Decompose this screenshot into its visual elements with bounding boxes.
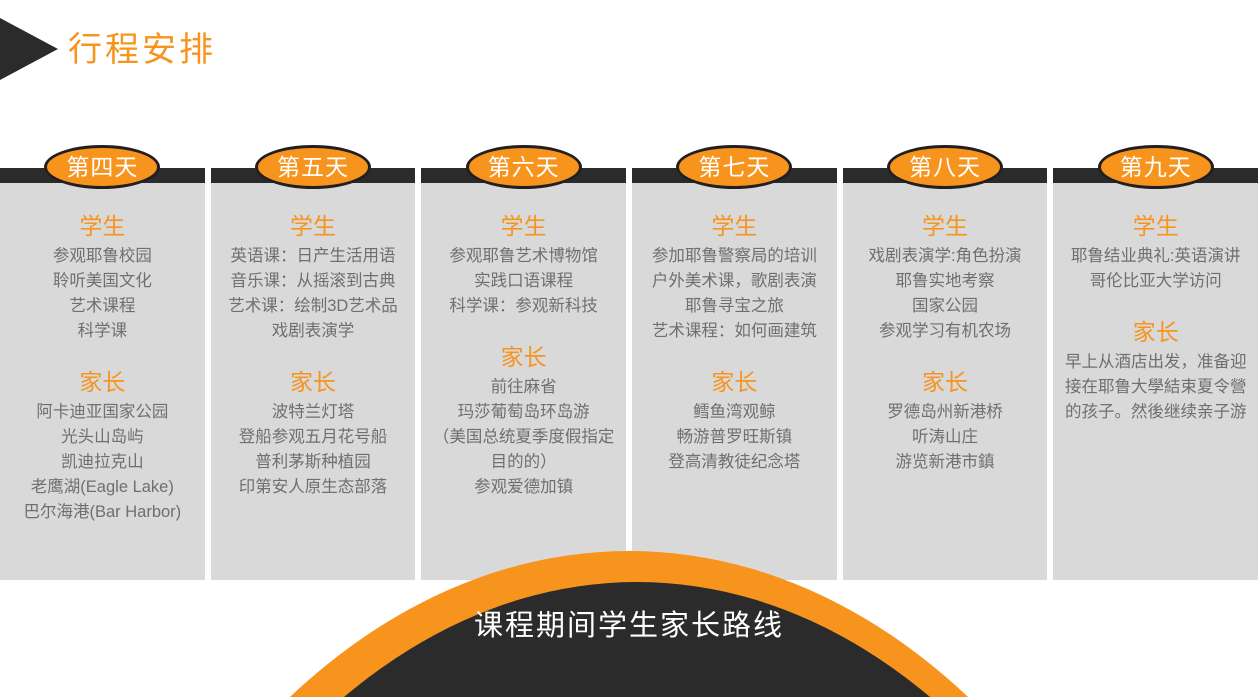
parent-activity-line: 印第安人原生态部落 xyxy=(215,475,412,500)
student-section-heading: 学生 xyxy=(636,210,833,242)
column-body: 学生耶鲁结业典礼:英语演讲哥伦比亚大学访问家长早上从酒店出发，准备迎接在耶鲁大學… xyxy=(1053,184,1258,425)
column-body: 学生英语课：日产生活用语音乐课：从摇滚到古典艺术课：绘制3D艺术品戏剧表演学家长… xyxy=(211,184,416,500)
day-badge[interactable]: 第八天 xyxy=(887,145,1003,189)
column-body: 学生参观耶鲁校园聆听美国文化艺术课程科学课家长阿卡迪亚国家公园光头山岛屿凯迪拉克… xyxy=(0,184,205,525)
student-activity-line: 英语课：日产生活用语 xyxy=(215,244,412,269)
day-column[interactable]: 第八天学生戏剧表演学:角色扮演耶鲁实地考察国家公园参观学习有机农场家长罗德岛州新… xyxy=(843,168,1048,580)
student-section-heading: 学生 xyxy=(4,210,201,242)
parent-section-heading: 家长 xyxy=(636,366,833,398)
parent-activity-line: 游览新港市鎮 xyxy=(847,450,1044,475)
student-section-heading: 学生 xyxy=(215,210,412,242)
student-activity-line: 戏剧表演学 xyxy=(215,319,412,344)
student-activity-line: 参加耶鲁警察局的培训 xyxy=(636,244,833,269)
parent-activity-line: 罗德岛州新港桥 xyxy=(847,400,1044,425)
parent-activity-line: 波特兰灯塔 xyxy=(215,400,412,425)
parent-activity-line: 畅游普罗旺斯镇 xyxy=(636,425,833,450)
parent-activity-line: 早上从酒店出发，准备迎接在耶鲁大學結束夏令營的孩子。然後继续亲子游 xyxy=(1057,350,1254,425)
day-column[interactable]: 第四天学生参观耶鲁校园聆听美国文化艺术课程科学课家长阿卡迪亚国家公园光头山岛屿凯… xyxy=(0,168,205,580)
student-activity-line: 艺术课程 xyxy=(4,294,201,319)
day-badge[interactable]: 第六天 xyxy=(466,145,582,189)
student-activity-line: 科学课：参观新科技 xyxy=(425,294,622,319)
parent-section-heading: 家长 xyxy=(4,366,201,398)
student-activity-line: 聆听美国文化 xyxy=(4,269,201,294)
column-body: 学生参加耶鲁警察局的培训户外美术课，歌剧表演耶鲁寻宝之旅艺术课程：如何画建筑家长… xyxy=(632,184,837,475)
student-activity-line: 艺术课：绘制3D艺术品 xyxy=(215,294,412,319)
parent-section-heading: 家长 xyxy=(425,341,622,373)
student-activity-line: 耶鲁结业典礼:英语演讲 xyxy=(1057,244,1254,269)
student-activity-line: 参观耶鲁艺术博物馆 xyxy=(425,244,622,269)
parent-activity-line: 登高清教徒纪念塔 xyxy=(636,450,833,475)
day-badge[interactable]: 第五天 xyxy=(255,145,371,189)
banner-title: 课程期间学生家长路线 xyxy=(0,606,1258,646)
day-column[interactable]: 第六天学生参观耶鲁艺术博物馆实践口语课程科学课：参观新科技家长前往麻省玛莎葡萄岛… xyxy=(421,168,626,580)
day-badge[interactable]: 第九天 xyxy=(1098,145,1214,189)
student-activity-line: 科学课 xyxy=(4,319,201,344)
day-column[interactable]: 第九天学生耶鲁结业典礼:英语演讲哥伦比亚大学访问家长早上从酒店出发，准备迎接在耶… xyxy=(1053,168,1258,580)
parent-activity-line: 光头山岛屿 xyxy=(4,425,201,450)
parent-activity-line: 玛莎葡萄岛环岛游 xyxy=(425,400,622,425)
parent-activity-line: 老鹰湖(Eagle Lake) xyxy=(4,475,201,500)
day-badge[interactable]: 第七天 xyxy=(676,145,792,189)
student-section-heading: 学生 xyxy=(1057,210,1254,242)
student-activity-line: 哥伦比亚大学访问 xyxy=(1057,269,1254,294)
day-columns-container: 第四天学生参观耶鲁校园聆听美国文化艺术课程科学课家长阿卡迪亚国家公园光头山岛屿凯… xyxy=(0,168,1258,580)
parent-activity-line: 前往麻省 xyxy=(425,375,622,400)
student-activity-line: 参观学习有机农场 xyxy=(847,319,1044,344)
slide-canvas: 行程安排 第四天学生参观耶鲁校园聆听美国文化艺术课程科学课家长阿卡迪亚国家公园光… xyxy=(0,0,1258,697)
student-activity-line: 耶鲁寻宝之旅 xyxy=(636,294,833,319)
student-activity-line: 耶鲁实地考察 xyxy=(847,269,1044,294)
student-activity-line: 户外美术课，歌剧表演 xyxy=(636,269,833,294)
column-body: 学生戏剧表演学:角色扮演耶鲁实地考察国家公园参观学习有机农场家长罗德岛州新港桥听… xyxy=(843,184,1048,475)
parent-activity-line: （美国总统夏季度假指定目的的） xyxy=(425,425,622,475)
student-activity-line: 艺术课程：如何画建筑 xyxy=(636,319,833,344)
parent-activity-line: 巴尔海港(Bar Harbor) xyxy=(4,500,201,525)
day-badge[interactable]: 第四天 xyxy=(44,145,160,189)
title-arrow-icon xyxy=(0,18,58,80)
parent-activity-line: 参观爱德加镇 xyxy=(425,475,622,500)
page-title: 行程安排 xyxy=(68,26,216,74)
parent-section-heading: 家长 xyxy=(215,366,412,398)
parent-activity-line: 听涛山庄 xyxy=(847,425,1044,450)
day-column[interactable]: 第七天学生参加耶鲁警察局的培训户外美术课，歌剧表演耶鲁寻宝之旅艺术课程：如何画建… xyxy=(632,168,837,580)
parent-activity-line: 登船参观五月花号船 xyxy=(215,425,412,450)
student-activity-line: 参观耶鲁校园 xyxy=(4,244,201,269)
student-activity-line: 音乐课：从摇滚到古典 xyxy=(215,269,412,294)
student-activity-line: 戏剧表演学:角色扮演 xyxy=(847,244,1044,269)
parent-activity-line: 凯迪拉克山 xyxy=(4,450,201,475)
day-column[interactable]: 第五天学生英语课：日产生活用语音乐课：从摇滚到古典艺术课：绘制3D艺术品戏剧表演… xyxy=(211,168,416,580)
column-body: 学生参观耶鲁艺术博物馆实践口语课程科学课：参观新科技家长前往麻省玛莎葡萄岛环岛游… xyxy=(421,184,626,500)
bottom-arc-banner: 课程期间学生家长路线 xyxy=(0,540,1258,697)
student-section-heading: 学生 xyxy=(847,210,1044,242)
student-activity-line: 实践口语课程 xyxy=(425,269,622,294)
parent-section-heading: 家长 xyxy=(1057,316,1254,348)
student-section-heading: 学生 xyxy=(425,210,622,242)
student-activity-line: 国家公园 xyxy=(847,294,1044,319)
parent-activity-line: 普利茅斯种植园 xyxy=(215,450,412,475)
parent-activity-line: 鳕鱼湾观鲸 xyxy=(636,400,833,425)
parent-activity-line: 阿卡迪亚国家公园 xyxy=(4,400,201,425)
parent-section-heading: 家长 xyxy=(847,366,1044,398)
